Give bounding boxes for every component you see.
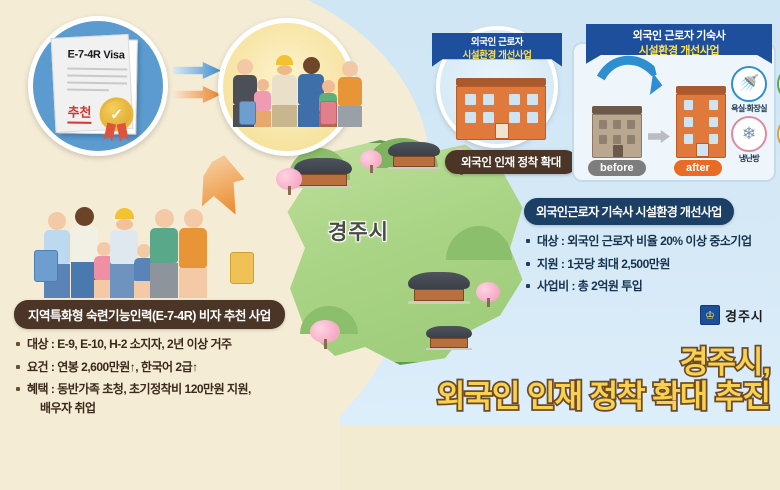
- right-info-header: 외국인근로자 기숙사 시설환경 개선사업: [524, 198, 734, 225]
- city-brand: ♔ 경주시: [700, 305, 764, 325]
- body: [592, 114, 642, 158]
- map-label: 경주시: [328, 216, 389, 246]
- feature-bathroom: 🚿 욕실·화장실: [724, 66, 774, 114]
- left-info-bullets: 대상 : E-9, E-10, H-2 소지자, 2년 이상 거주 요건 : 연…: [14, 337, 334, 416]
- hanok-base: [294, 186, 352, 188]
- head: [257, 79, 269, 91]
- legs: [254, 111, 271, 127]
- cherry-blossom-icon: [276, 168, 302, 198]
- ribbon-line1: 외국인 근로자: [471, 37, 523, 48]
- trunk: [288, 186, 291, 195]
- left-info-box: 지역특화형 숙련기능인력(E-7-4R) 비자 추천 사업 대상 : E-9, …: [14, 300, 334, 423]
- cherry-blossom-icon: [360, 150, 382, 176]
- building-after-icon: [676, 86, 726, 158]
- gyeongju-city-emblem-icon: ♔: [700, 305, 720, 325]
- head: [137, 244, 151, 258]
- person-construction-worker: [272, 55, 297, 127]
- window: [684, 134, 693, 144]
- ribbon-line1: 외국인 근로자 기숙사: [633, 30, 726, 42]
- suitcase-blue-left-icon: [34, 250, 58, 282]
- legs: [150, 263, 178, 298]
- torso: [254, 91, 271, 111]
- hanok-roof: [408, 272, 470, 289]
- torso: [272, 75, 297, 105]
- hanok-base: [388, 167, 440, 169]
- left-info-header: 지역특화형 숙련기능인력(E-7-4R) 비자 추천 사업: [14, 300, 285, 329]
- visa-circle: E-7-4R Visa 추천 ✓: [28, 16, 168, 156]
- window: [709, 100, 718, 110]
- window: [509, 94, 520, 105]
- list-item-continuation: 배우자 취업: [14, 401, 334, 417]
- feature-safety: 🧯 안전시설: [770, 116, 780, 164]
- legs: [272, 105, 297, 127]
- list-item: 대상 : 외국인 근로자 비율 20% 이상 중소기업: [524, 234, 776, 250]
- dormitory-building-icon: [456, 78, 546, 140]
- hanok-roof: [388, 142, 440, 156]
- right-info-box: 외국인근로자 기숙사 시설환경 개선사업 대상 : 외국인 근로자 비율 20%…: [524, 198, 776, 302]
- ribbon-line2: 시설환경 개선사업: [463, 50, 532, 61]
- family-caption: 외국인 인재 정착 확대: [445, 150, 577, 174]
- window: [709, 134, 718, 144]
- window: [627, 120, 635, 129]
- entrance-door: [495, 123, 509, 139]
- hanok-base: [408, 301, 470, 304]
- head: [116, 219, 133, 230]
- cherry-blossom-icon: [476, 282, 500, 310]
- legs: [179, 268, 207, 298]
- roof: [676, 86, 726, 94]
- suitcase-red-icon: [320, 101, 337, 125]
- window: [684, 100, 693, 110]
- person-child-girl: [254, 63, 271, 127]
- hanok-body: [414, 289, 465, 302]
- family-circle: 외국인 인재 정착 확대: [218, 18, 356, 156]
- window: [599, 135, 607, 144]
- head: [303, 57, 320, 74]
- window: [709, 117, 718, 127]
- suitcase-yellow-icon: [230, 252, 254, 284]
- head: [75, 207, 94, 226]
- list-item: 지원 : 1곳당 최대 2,500만원: [524, 257, 776, 273]
- recommendation-stamp: 추천: [67, 101, 91, 123]
- hanok-roof: [294, 158, 352, 174]
- hard-hat-icon: [115, 208, 134, 219]
- window: [684, 117, 693, 127]
- hanok-roof: [426, 326, 472, 338]
- entrance-door: [696, 143, 709, 157]
- head: [155, 209, 174, 228]
- torso: [179, 228, 207, 268]
- check-medal-icon: ✓: [99, 97, 134, 132]
- head: [237, 59, 253, 75]
- workers-group-illustration: [44, 188, 207, 298]
- head: [322, 80, 335, 93]
- air-conditioner-icon: ❄: [731, 116, 767, 152]
- window: [465, 112, 476, 123]
- body: [456, 86, 546, 140]
- window: [483, 94, 494, 105]
- roof: [592, 106, 642, 114]
- torso: [338, 77, 362, 106]
- person-woman: [338, 61, 362, 127]
- toilet-shower-icon: 🚿: [731, 66, 767, 102]
- hanok-body: [393, 156, 436, 167]
- hanok-icon: [408, 272, 470, 304]
- suitcase-blue-icon: [239, 101, 256, 125]
- headline: 경주시, 외국인 인재 정착 확대 추진: [437, 346, 770, 415]
- list-item: 요건 : 연봉 2,600만원↑, 한국어 2급↑: [14, 360, 334, 376]
- arrow-right-gray-icon: [648, 130, 670, 143]
- person-woman-orange: [179, 209, 207, 298]
- entrance-door: [613, 145, 623, 157]
- after-tag: after: [674, 160, 722, 176]
- window: [483, 112, 494, 123]
- trunk: [370, 165, 373, 173]
- roof: [456, 78, 546, 86]
- hanok-icon: [294, 158, 352, 188]
- window: [509, 112, 520, 123]
- visa-document: E-7-4R Visa 추천 ✓: [58, 38, 138, 134]
- document-lines: [67, 67, 136, 91]
- list-item: 대상 : E-9, E-10, H-2 소지자, 2년 이상 거주: [14, 337, 334, 353]
- window: [465, 94, 476, 105]
- hard-hat-icon: [276, 55, 293, 65]
- poster-canvas: 경주시 E-7-4R Visa 추천 ✓: [0, 0, 780, 425]
- headline-line-1: 경주시,: [437, 346, 770, 381]
- window: [527, 112, 538, 123]
- building-before-icon: [592, 106, 642, 158]
- window: [527, 94, 538, 105]
- hanok-icon: [388, 142, 440, 169]
- window: [599, 120, 607, 129]
- body: [676, 94, 726, 158]
- feature-wallpaper: 🚪 도배·장판: [770, 66, 780, 114]
- headline-line-2: 외국인 인재 정착 확대 추진: [437, 380, 770, 415]
- trunk: [487, 298, 490, 306]
- head: [277, 65, 292, 75]
- city-name: 경주시: [725, 306, 764, 325]
- list-item: 혜택 : 동반가족 초청, 초기정착비 120만원 지원,: [14, 382, 334, 398]
- feature-label: 도배·장판: [770, 103, 780, 114]
- feature-label: 욕실·화장실: [724, 103, 774, 114]
- window: [613, 135, 621, 144]
- window: [613, 120, 621, 129]
- head: [97, 242, 111, 256]
- person-man-green: [150, 209, 178, 298]
- feature-label: 안전시설: [770, 153, 780, 164]
- right-info-bullets: 대상 : 외국인 근로자 비율 20% 이상 중소기업 지원 : 1곳당 최대 …: [524, 234, 776, 295]
- hanok-body: [299, 174, 347, 186]
- visa-title: E-7-4R Visa: [67, 48, 136, 61]
- head: [342, 61, 358, 77]
- torso: [150, 228, 178, 263]
- head: [48, 212, 66, 230]
- window: [627, 135, 635, 144]
- head: [184, 209, 203, 228]
- legs: [338, 106, 362, 127]
- feature-label: 냉난방: [724, 153, 774, 164]
- list-item: 사업비 : 총 2억원 투입: [524, 279, 776, 295]
- feature-hvac: ❄ 냉난방: [724, 116, 774, 164]
- before-after-panel: 🚿 욕실·화장실 🚪 도배·장판 ❄ 냉난방 🧯 안전시설 before aft…: [572, 42, 776, 182]
- before-tag: before: [588, 160, 646, 176]
